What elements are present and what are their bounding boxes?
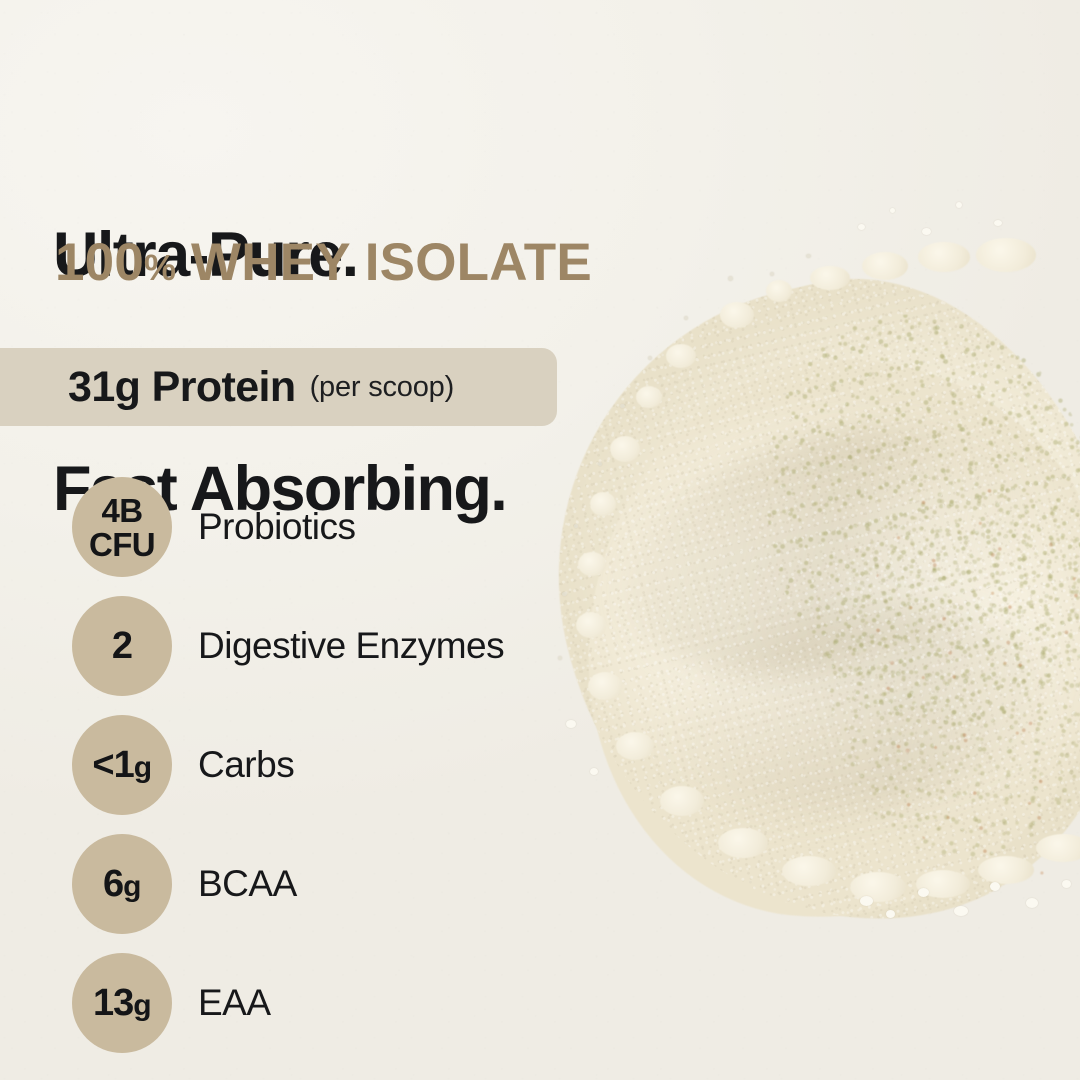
- stat-label-eaa: EAA: [198, 982, 271, 1024]
- powder-speck: [1062, 880, 1071, 888]
- powder-edge-crumb: [590, 492, 616, 516]
- powder-edge-crumb: [810, 266, 850, 290]
- badge-number: 6: [103, 863, 123, 905]
- powder-speck: [620, 404, 625, 408]
- powder-edge-crumb: [610, 436, 640, 462]
- powder-speck: [922, 228, 931, 235]
- powder-speck: [956, 202, 962, 208]
- nutrition-stats-list: 4B CFU Probiotics 2 Digestive Enzymes <1…: [72, 477, 504, 1072]
- powder-edge-crumb: [1036, 834, 1080, 862]
- powder-speck: [858, 224, 865, 230]
- powder-mound-secondary: [562, 334, 1080, 945]
- powder-speck: [562, 592, 567, 596]
- badge-value: 2: [112, 627, 132, 665]
- powder-edge-crumb: [976, 238, 1036, 272]
- powder-edge-crumb: [660, 786, 704, 816]
- powder-speck: [954, 906, 968, 916]
- powder-grain-texture: [500, 230, 1080, 980]
- powder-edge-crumb: [616, 732, 654, 760]
- powder-rust-flecks: [835, 461, 1080, 918]
- badge-value: 13g: [93, 984, 151, 1022]
- list-item: 2 Digestive Enzymes: [72, 596, 504, 696]
- powder-speck: [886, 910, 895, 918]
- powder-speck: [806, 254, 811, 258]
- badge-number: 2: [112, 625, 132, 667]
- powder-edge-crumb: [918, 242, 970, 272]
- stat-label-digestive-enzymes: Digestive Enzymes: [198, 625, 504, 667]
- badge-unit: g: [133, 989, 151, 1022]
- powder-speck: [990, 882, 1000, 891]
- powder-speck: [558, 656, 562, 660]
- badge-number: <1: [92, 744, 133, 786]
- powder-speck: [728, 276, 733, 281]
- powder-edge-crumb: [666, 344, 696, 368]
- stat-label-bcaa: BCAA: [198, 863, 297, 905]
- powder-edge-crumb: [850, 872, 906, 902]
- powder-speck: [860, 896, 873, 906]
- powder-speck: [918, 888, 929, 897]
- percent-symbol: %: [144, 247, 176, 288]
- powder-edge-crumb: [862, 252, 908, 280]
- protein-amount: 31g Protein: [68, 363, 296, 412]
- stat-label-carbs: Carbs: [198, 744, 294, 786]
- powder-edge-crumb: [782, 856, 836, 886]
- subheading: 100% WHEY ISOLATE: [55, 232, 592, 293]
- subheading-number: 100: [55, 233, 144, 292]
- powder-edge-crumb: [576, 612, 606, 638]
- powder-edge-crumb: [916, 870, 970, 898]
- powder-edge-crumb: [718, 828, 768, 858]
- powder-edge-crumb: [588, 672, 622, 700]
- product-infographic-poster: Ultra-Pure. Fast Absorbing. 100% WHEY IS…: [0, 0, 1080, 1080]
- powder-edge-crumb: [766, 280, 792, 302]
- stat-badge-carbs: <1g: [72, 715, 172, 815]
- protein-powder-image: [470, 180, 1080, 960]
- badge-unit: g: [134, 751, 152, 784]
- list-item: <1g Carbs: [72, 715, 504, 815]
- powder-speck: [890, 208, 895, 213]
- powder-speck: [648, 356, 652, 360]
- powder-speck: [684, 316, 688, 320]
- powder-olive-speckles: [724, 276, 1080, 763]
- powder-olive-speckles-lower: [817, 470, 1080, 869]
- stat-badge-probiotics: 4B CFU: [72, 477, 172, 577]
- powder-ridge-shadow: [596, 382, 1063, 719]
- badge-number: 13: [93, 982, 133, 1024]
- powder-mound-base: [500, 230, 1080, 980]
- powder-speck: [994, 220, 1002, 226]
- list-item: 4B CFU Probiotics: [72, 477, 504, 577]
- powder-edge-crumb: [978, 856, 1034, 884]
- powder-speck: [770, 272, 774, 276]
- badge-value-line-1: 4B: [102, 494, 143, 527]
- list-item: 13g EAA: [72, 953, 504, 1053]
- stat-label-probiotics: Probiotics: [198, 506, 355, 548]
- powder-speck: [566, 720, 576, 728]
- badge-value-line-2: CFU: [89, 528, 155, 561]
- list-item: 6g BCAA: [72, 834, 504, 934]
- stat-badge-digestive-enzymes: 2: [72, 596, 172, 696]
- badge-value: <1g: [92, 746, 151, 784]
- stat-badge-bcaa: 6g: [72, 834, 172, 934]
- powder-edge-crumb: [720, 302, 754, 328]
- subheading-text: WHEY ISOLATE: [176, 233, 592, 292]
- powder-speck: [1026, 898, 1038, 908]
- powder-speck: [590, 768, 598, 775]
- powder-ridge-shadow-lower: [657, 582, 1064, 839]
- powder-speck: [574, 524, 578, 528]
- protein-highlight-banner: 31g Protein (per scoop): [0, 348, 557, 426]
- badge-value: 6g: [103, 865, 141, 903]
- stat-badge-eaa: 13g: [72, 953, 172, 1053]
- powder-edge-crumb: [578, 552, 606, 576]
- protein-serving-note: (per scoop): [310, 371, 454, 404]
- badge-unit: g: [123, 870, 141, 903]
- powder-speck: [598, 462, 602, 466]
- powder-edge-crumb: [636, 386, 662, 408]
